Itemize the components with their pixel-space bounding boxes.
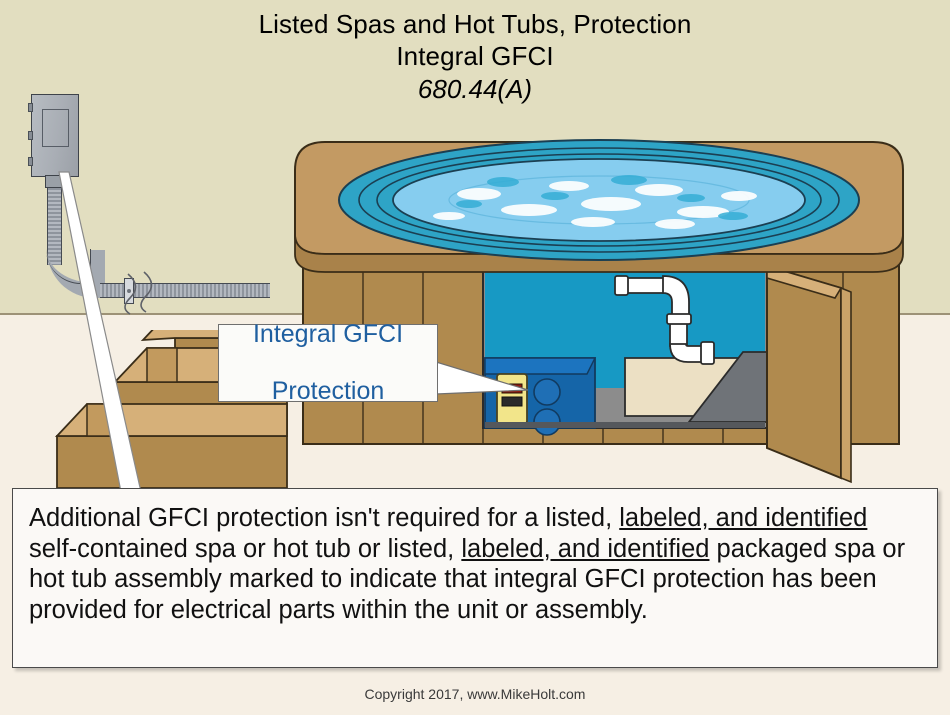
title-line-1: Listed Spas and Hot Tubs, Protection <box>0 8 950 40</box>
callout-line-1: Integral GFCI <box>253 320 403 349</box>
title-block: Listed Spas and Hot Tubs, Protection Int… <box>0 8 950 107</box>
callout-pointer <box>436 360 532 402</box>
illustration-stage: Listed Spas and Hot Tubs, Protection Int… <box>0 0 950 713</box>
panel-hinge-bottom <box>28 157 33 166</box>
spa-water <box>339 140 859 260</box>
rule-text-box: Additional GFCI protection isn't require… <box>12 488 938 668</box>
leader-line-panel <box>55 170 225 500</box>
title-line-2: Integral GFCI <box>0 40 950 72</box>
panel-deadfront <box>42 109 69 147</box>
rule-text-emphasis: labeled, and identified <box>461 535 709 563</box>
callout-line-2: Protection <box>253 377 403 406</box>
panel-hinge-mid <box>28 131 33 140</box>
rule-text: Additional GFCI protection isn't require… <box>29 503 921 626</box>
callout-integral-gfci: Integral GFCI Protection <box>218 324 438 402</box>
access-door-open <box>767 266 851 482</box>
rule-text-emphasis: labeled, and identified <box>619 504 867 532</box>
rule-text-plain: Additional GFCI protection isn't require… <box>29 504 619 532</box>
spa-hot-tub <box>285 126 925 486</box>
control-dial-upper <box>534 379 560 405</box>
copyright-notice: Copyright 2017, www.MikeHolt.com <box>0 686 950 702</box>
equipment-bay <box>483 268 767 435</box>
rule-text-plain: self-contained spa or hot tub or listed, <box>29 535 461 563</box>
title-code-reference: 680.44(A) <box>0 73 950 107</box>
